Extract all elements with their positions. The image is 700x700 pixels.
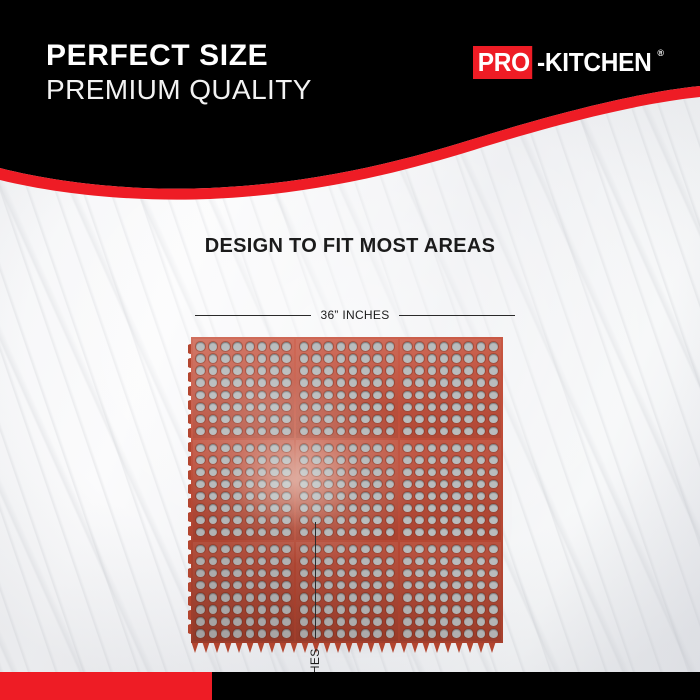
- mat-drainage-hole: [270, 391, 279, 399]
- mat-drainage-hole: [246, 504, 255, 512]
- mat-drainage-hole: [209, 342, 218, 350]
- mat-drainage-hole: [403, 366, 412, 374]
- mat-drainage-hole: [337, 354, 346, 362]
- mat-drainage-hole: [282, 468, 291, 476]
- mat-drainage-hole: [246, 427, 255, 435]
- mat-drainage-hole: [337, 516, 346, 524]
- mat-drainage-hole: [196, 403, 205, 411]
- mat-drainage-hole: [477, 545, 486, 553]
- mat-drainage-hole: [233, 427, 242, 435]
- mat-drainage-hole: [324, 504, 333, 512]
- mat-drainage-hole: [270, 605, 279, 613]
- mat-drainage-hole: [477, 391, 486, 399]
- mat-drainage-hole: [373, 403, 382, 411]
- mat-drainage-hole: [477, 569, 486, 577]
- mat-drainage-hole: [452, 617, 461, 625]
- mat-drainage-hole: [440, 492, 449, 500]
- mat-section: [193, 542, 294, 641]
- mat-drainage-hole: [415, 581, 424, 589]
- mat-drainage-hole: [196, 480, 205, 488]
- mat-drainage-hole: [477, 480, 486, 488]
- mat-drainage-hole: [464, 593, 473, 601]
- mat-drainage-hole: [282, 444, 291, 452]
- mat-drainage-hole: [209, 403, 218, 411]
- mat-drainage-hole: [415, 557, 424, 565]
- mat-drainage-hole: [452, 605, 461, 613]
- mat-drainage-hole: [386, 427, 395, 435]
- mat-drainage-hole: [312, 456, 321, 464]
- mat-drainage-hole: [415, 605, 424, 613]
- mat-drainage-hole: [440, 480, 449, 488]
- mat-drainage-hole: [489, 403, 498, 411]
- mat-drainage-hole: [489, 415, 498, 423]
- mat-drainage-hole: [258, 593, 267, 601]
- mat-drainage-hole: [196, 391, 205, 399]
- mat-drainage-hole: [415, 354, 424, 362]
- mat-drainage-hole: [373, 468, 382, 476]
- mat-drainage-hole: [386, 480, 395, 488]
- mat-drainage-hole: [349, 492, 358, 500]
- mat-drainage-hole: [464, 480, 473, 488]
- mat-drainage-hole: [477, 605, 486, 613]
- mat-drainage-hole: [361, 403, 370, 411]
- mat-drainage-hole: [300, 492, 309, 500]
- mat-drainage-hole: [452, 456, 461, 464]
- mat-drainage-hole: [258, 468, 267, 476]
- footer-bar-red: [0, 672, 212, 700]
- mat-drainage-hole: [270, 617, 279, 625]
- mat-drainage-hole: [452, 391, 461, 399]
- mat-drainage-hole: [324, 492, 333, 500]
- mat-drainage-hole: [386, 468, 395, 476]
- mat-drainage-hole: [415, 378, 424, 386]
- mat-drainage-hole: [386, 617, 395, 625]
- mat-drainage-hole: [464, 528, 473, 536]
- mat-drainage-hole: [489, 468, 498, 476]
- mat-drainage-hole: [428, 415, 437, 423]
- mat-drainage-hole: [209, 366, 218, 374]
- mat-section: [296, 339, 397, 438]
- mat-drainage-hole: [282, 480, 291, 488]
- mat-drainage-hole: [440, 581, 449, 589]
- logo-badge-pro: PRO: [473, 46, 533, 79]
- mat-drainage-hole: [196, 516, 205, 524]
- mat-drainage-hole: [489, 354, 498, 362]
- mat-drainage-hole: [233, 468, 242, 476]
- mat-drainage-hole: [440, 342, 449, 350]
- mat-drainage-hole: [258, 354, 267, 362]
- mat-drainage-hole: [428, 557, 437, 565]
- mat-drainage-hole: [337, 492, 346, 500]
- mat-drainage-hole: [337, 427, 346, 435]
- mat-drainage-hole: [373, 504, 382, 512]
- mat-drainage-hole: [489, 581, 498, 589]
- mat-drainage-hole: [233, 415, 242, 423]
- product-image-mat: [188, 335, 514, 655]
- mat-drainage-hole: [373, 492, 382, 500]
- mat-drainage-hole: [196, 557, 205, 565]
- mat-drainage-hole: [361, 569, 370, 577]
- mat-drainage-hole: [452, 516, 461, 524]
- mat-drainage-hole: [233, 366, 242, 374]
- dimension-rule-left: [195, 315, 311, 316]
- mat-drainage-hole: [209, 456, 218, 464]
- mat-drainage-hole: [270, 468, 279, 476]
- mat-drainage-hole: [233, 342, 242, 350]
- dimension-label-width: 36” INCHES: [320, 308, 389, 322]
- mat-drainage-hole: [361, 593, 370, 601]
- mat-drainage-hole: [415, 617, 424, 625]
- mat-drainage-hole: [428, 629, 437, 637]
- mat-drainage-hole: [349, 545, 358, 553]
- mat-drainage-hole: [270, 415, 279, 423]
- mat-drainage-hole: [233, 504, 242, 512]
- mat-drainage-hole: [221, 516, 230, 524]
- mat-drainage-hole: [477, 354, 486, 362]
- mat-drainage-hole: [324, 444, 333, 452]
- mat-drainage-hole: [464, 569, 473, 577]
- mat-drainage-hole: [196, 378, 205, 386]
- mat-drainage-hole: [270, 581, 279, 589]
- mat-drainage-hole: [415, 342, 424, 350]
- mat-drainage-hole: [428, 468, 437, 476]
- logo-text-kitchen: -KITCHEN: [537, 46, 652, 79]
- mat-drainage-hole: [209, 444, 218, 452]
- mat-drainage-hole: [349, 456, 358, 464]
- mat-drainage-hole: [282, 569, 291, 577]
- mat-drainage-hole: [386, 456, 395, 464]
- mat-drainage-hole: [246, 391, 255, 399]
- mat-drainage-hole: [324, 366, 333, 374]
- mat-drainage-hole: [452, 504, 461, 512]
- mat-drainage-hole: [312, 480, 321, 488]
- mat-drainage-hole: [209, 492, 218, 500]
- mat-drainage-hole: [196, 605, 205, 613]
- mat-drainage-hole: [464, 629, 473, 637]
- mat-drainage-hole: [464, 605, 473, 613]
- mat-drainage-hole: [452, 629, 461, 637]
- mat-drainage-hole: [452, 480, 461, 488]
- dimension-rule-right: [399, 315, 515, 316]
- mat-drainage-hole: [337, 528, 346, 536]
- mat-drainage-hole: [221, 569, 230, 577]
- mat-drainage-hole: [258, 617, 267, 625]
- mat-drainage-hole: [209, 354, 218, 362]
- mat-drainage-hole: [349, 427, 358, 435]
- mat-drainage-hole: [337, 415, 346, 423]
- mat-drainage-hole: [415, 593, 424, 601]
- mat-drainage-hole: [258, 391, 267, 399]
- mat-drainage-hole: [452, 366, 461, 374]
- registered-trademark-icon: ®: [657, 49, 664, 58]
- mat-drainage-hole: [324, 415, 333, 423]
- mat-drainage-hole: [270, 354, 279, 362]
- mat-drainage-hole: [246, 456, 255, 464]
- mat-drainage-hole: [452, 468, 461, 476]
- mat-drainage-hole: [361, 492, 370, 500]
- mat-drainage-hole: [428, 366, 437, 374]
- mat-drainage-hole: [258, 415, 267, 423]
- mat-drainage-hole: [477, 557, 486, 565]
- mat-drainage-hole: [246, 378, 255, 386]
- mat-drainage-hole: [440, 569, 449, 577]
- mat-drainage-hole: [489, 569, 498, 577]
- mat-drainage-hole: [428, 528, 437, 536]
- mat-drainage-hole: [373, 456, 382, 464]
- mat-drainage-hole: [349, 342, 358, 350]
- mat-drainage-hole: [337, 545, 346, 553]
- mat-drainage-hole: [337, 605, 346, 613]
- mat-drainage-hole: [221, 444, 230, 452]
- mat-drainage-hole: [349, 354, 358, 362]
- mat-drainage-hole: [452, 427, 461, 435]
- mat-drainage-hole: [246, 354, 255, 362]
- mat-drainage-hole: [349, 468, 358, 476]
- mat-drainage-hole: [415, 366, 424, 374]
- mat-drainage-hole: [282, 427, 291, 435]
- mat-drainage-hole: [428, 403, 437, 411]
- mat-drainage-hole: [221, 629, 230, 637]
- mat-drainage-hole: [477, 415, 486, 423]
- mat-drainage-hole: [300, 342, 309, 350]
- mat-drainage-hole: [258, 504, 267, 512]
- mat-drainage-hole: [209, 468, 218, 476]
- mat-drainage-hole: [300, 366, 309, 374]
- mat-drainage-hole: [221, 545, 230, 553]
- mat-drainage-hole: [196, 593, 205, 601]
- mat-drainage-hole: [337, 456, 346, 464]
- mat-drainage-hole: [221, 427, 230, 435]
- mat-drainage-hole: [337, 581, 346, 589]
- mat-surface: [191, 337, 503, 643]
- mat-drainage-hole: [312, 378, 321, 386]
- mat-drainage-hole: [415, 492, 424, 500]
- mat-drainage-hole: [361, 415, 370, 423]
- mat-drainage-hole: [233, 444, 242, 452]
- mat-drainage-hole: [270, 528, 279, 536]
- mat-drainage-hole: [209, 504, 218, 512]
- mat-drainage-hole: [464, 366, 473, 374]
- mat-drainage-hole: [373, 480, 382, 488]
- footer-bar-black: [212, 672, 700, 700]
- dimension-callout-width: 36” INCHES: [195, 308, 515, 322]
- mat-drainage-hole: [233, 557, 242, 565]
- mat-section: [193, 440, 294, 539]
- mat-drainage-hole: [233, 403, 242, 411]
- mat-drainage-hole: [386, 378, 395, 386]
- mat-drainage-hole: [221, 617, 230, 625]
- dimension-callout-height-holder: 36” INCHES: [161, 335, 185, 657]
- headline-block: PERFECT SIZE PREMIUM QUALITY: [46, 40, 312, 108]
- mat-drainage-hole: [221, 354, 230, 362]
- mat-drainage-hole: [386, 593, 395, 601]
- mat-drainage-hole: [386, 403, 395, 411]
- mat-drainage-hole: [233, 378, 242, 386]
- mat-drainage-hole: [270, 545, 279, 553]
- mat-drainage-hole: [209, 391, 218, 399]
- mat-drainage-hole: [403, 480, 412, 488]
- mat-drainage-hole: [221, 480, 230, 488]
- mat-drainage-hole: [337, 593, 346, 601]
- header-banner: PERFECT SIZE PREMIUM QUALITY PRO -KITCHE…: [0, 0, 700, 215]
- mat-drainage-hole: [300, 378, 309, 386]
- mat-drainage-hole: [196, 468, 205, 476]
- mat-drainage-hole: [415, 480, 424, 488]
- mat-drainage-hole: [258, 456, 267, 464]
- mat-drainage-hole: [386, 605, 395, 613]
- mat-drainage-hole: [349, 569, 358, 577]
- mat-drainage-hole: [440, 444, 449, 452]
- mat-drainage-hole: [415, 391, 424, 399]
- mat-drainage-hole: [258, 427, 267, 435]
- mat-drainage-hole: [403, 528, 412, 536]
- mat-drainage-hole: [258, 605, 267, 613]
- mat-drainage-hole: [324, 342, 333, 350]
- mat-drainage-hole: [282, 342, 291, 350]
- mat-drainage-hole: [324, 354, 333, 362]
- mat-drainage-hole: [221, 581, 230, 589]
- mat-drainage-hole: [282, 504, 291, 512]
- mat-drainage-hole: [258, 492, 267, 500]
- mat-drainage-hole: [386, 629, 395, 637]
- mat-drainage-hole: [403, 504, 412, 512]
- mat-drainage-hole: [386, 354, 395, 362]
- mat-drainage-hole: [282, 629, 291, 637]
- mat-drainage-hole: [270, 569, 279, 577]
- mat-drainage-hole: [312, 492, 321, 500]
- mat-drainage-hole: [373, 593, 382, 601]
- mat-drainage-hole: [221, 403, 230, 411]
- mat-drainage-hole: [221, 504, 230, 512]
- mat-drainage-hole: [386, 444, 395, 452]
- mat-drainage-hole: [464, 342, 473, 350]
- mat-drainage-hole: [221, 593, 230, 601]
- mat-drainage-hole: [386, 342, 395, 350]
- mat-drainage-hole: [337, 366, 346, 374]
- mat-drainage-hole: [270, 480, 279, 488]
- mat-drainage-hole: [221, 391, 230, 399]
- mat-drainage-hole: [373, 516, 382, 524]
- mat-drainage-hole: [233, 492, 242, 500]
- mat-drainage-hole: [477, 593, 486, 601]
- mat-drainage-hole: [246, 468, 255, 476]
- mat-drainage-hole: [403, 427, 412, 435]
- brand-logo[interactable]: PRO -KITCHEN ®: [473, 46, 664, 79]
- mat-drainage-hole: [246, 415, 255, 423]
- mat-drainage-hole: [196, 569, 205, 577]
- mat-drainage-hole: [477, 444, 486, 452]
- mat-drainage-hole: [361, 468, 370, 476]
- mat-drainage-hole: [233, 605, 242, 613]
- mat-drainage-hole: [312, 415, 321, 423]
- mat-drainage-hole: [386, 504, 395, 512]
- mat-drainage-hole: [489, 545, 498, 553]
- mat-drainage-hole: [428, 378, 437, 386]
- mat-drainage-hole: [270, 504, 279, 512]
- mat-drainage-hole: [258, 342, 267, 350]
- mat-drainage-hole: [270, 444, 279, 452]
- mat-drainage-hole: [258, 581, 267, 589]
- mat-drainage-hole: [415, 504, 424, 512]
- mat-drainage-hole: [270, 403, 279, 411]
- mat-drainage-hole: [282, 557, 291, 565]
- mat-drainage-hole: [246, 366, 255, 374]
- mat-drainage-hole: [196, 528, 205, 536]
- mat-drainage-hole: [489, 427, 498, 435]
- mat-drainage-hole: [300, 456, 309, 464]
- mat-drainage-hole: [258, 480, 267, 488]
- mat-drainage-hole: [403, 545, 412, 553]
- mat-drainage-hole: [477, 617, 486, 625]
- mat-drainage-hole: [312, 504, 321, 512]
- mat-drainage-hole: [440, 605, 449, 613]
- mat-drainage-hole: [464, 354, 473, 362]
- mat-drainage-hole: [403, 581, 412, 589]
- mat-drainage-hole: [337, 403, 346, 411]
- mat-drainage-hole: [324, 378, 333, 386]
- mat-drainage-hole: [209, 545, 218, 553]
- mat-section: [193, 339, 294, 438]
- mat-drainage-hole: [349, 480, 358, 488]
- mat-drainage-hole: [373, 366, 382, 374]
- mat-drainage-hole: [477, 468, 486, 476]
- mat-drainage-hole: [246, 629, 255, 637]
- mat-drainage-hole: [282, 605, 291, 613]
- mat-drainage-hole: [386, 528, 395, 536]
- mat-drainage-hole: [337, 504, 346, 512]
- mat-drainage-hole: [324, 480, 333, 488]
- mat-drainage-hole: [324, 468, 333, 476]
- mat-drainage-hole: [489, 366, 498, 374]
- mat-drainage-hole: [300, 354, 309, 362]
- mat-drainage-hole: [477, 629, 486, 637]
- mat-drainage-hole: [373, 528, 382, 536]
- mat-drainage-hole: [196, 492, 205, 500]
- mat-drainage-hole: [428, 342, 437, 350]
- mat-drainage-hole: [196, 342, 205, 350]
- mat-drainage-hole: [312, 366, 321, 374]
- mat-drainage-hole: [300, 504, 309, 512]
- mat-drainage-hole: [428, 456, 437, 464]
- mat-drainage-hole: [440, 468, 449, 476]
- mat-drainage-hole: [233, 629, 242, 637]
- mat-drainage-hole: [373, 444, 382, 452]
- mat-drainage-hole: [440, 391, 449, 399]
- mat-drainage-hole: [452, 444, 461, 452]
- mat-drainage-hole: [489, 342, 498, 350]
- mat-drainage-hole: [477, 456, 486, 464]
- mat-drainage-hole: [464, 468, 473, 476]
- mat-drainage-hole: [477, 581, 486, 589]
- section-heading: DESIGN TO FIT MOST AREAS: [0, 235, 700, 258]
- mat-drainage-hole: [349, 617, 358, 625]
- mat-drainage-hole: [452, 545, 461, 553]
- mat-drainage-hole: [337, 569, 346, 577]
- mat-drainage-hole: [464, 378, 473, 386]
- mat-drainage-hole: [428, 516, 437, 524]
- mat-drainage-hole: [312, 468, 321, 476]
- mat-drainage-hole: [246, 342, 255, 350]
- mat-drainage-hole: [258, 378, 267, 386]
- mat-drainage-hole: [282, 354, 291, 362]
- mat-drainage-hole: [282, 391, 291, 399]
- mat-drainage-hole: [300, 480, 309, 488]
- mat-drainage-hole: [440, 366, 449, 374]
- mat-drainage-hole: [477, 427, 486, 435]
- mat-drainage-hole: [233, 617, 242, 625]
- mat-drainage-hole: [477, 378, 486, 386]
- mat-drainage-hole: [209, 617, 218, 625]
